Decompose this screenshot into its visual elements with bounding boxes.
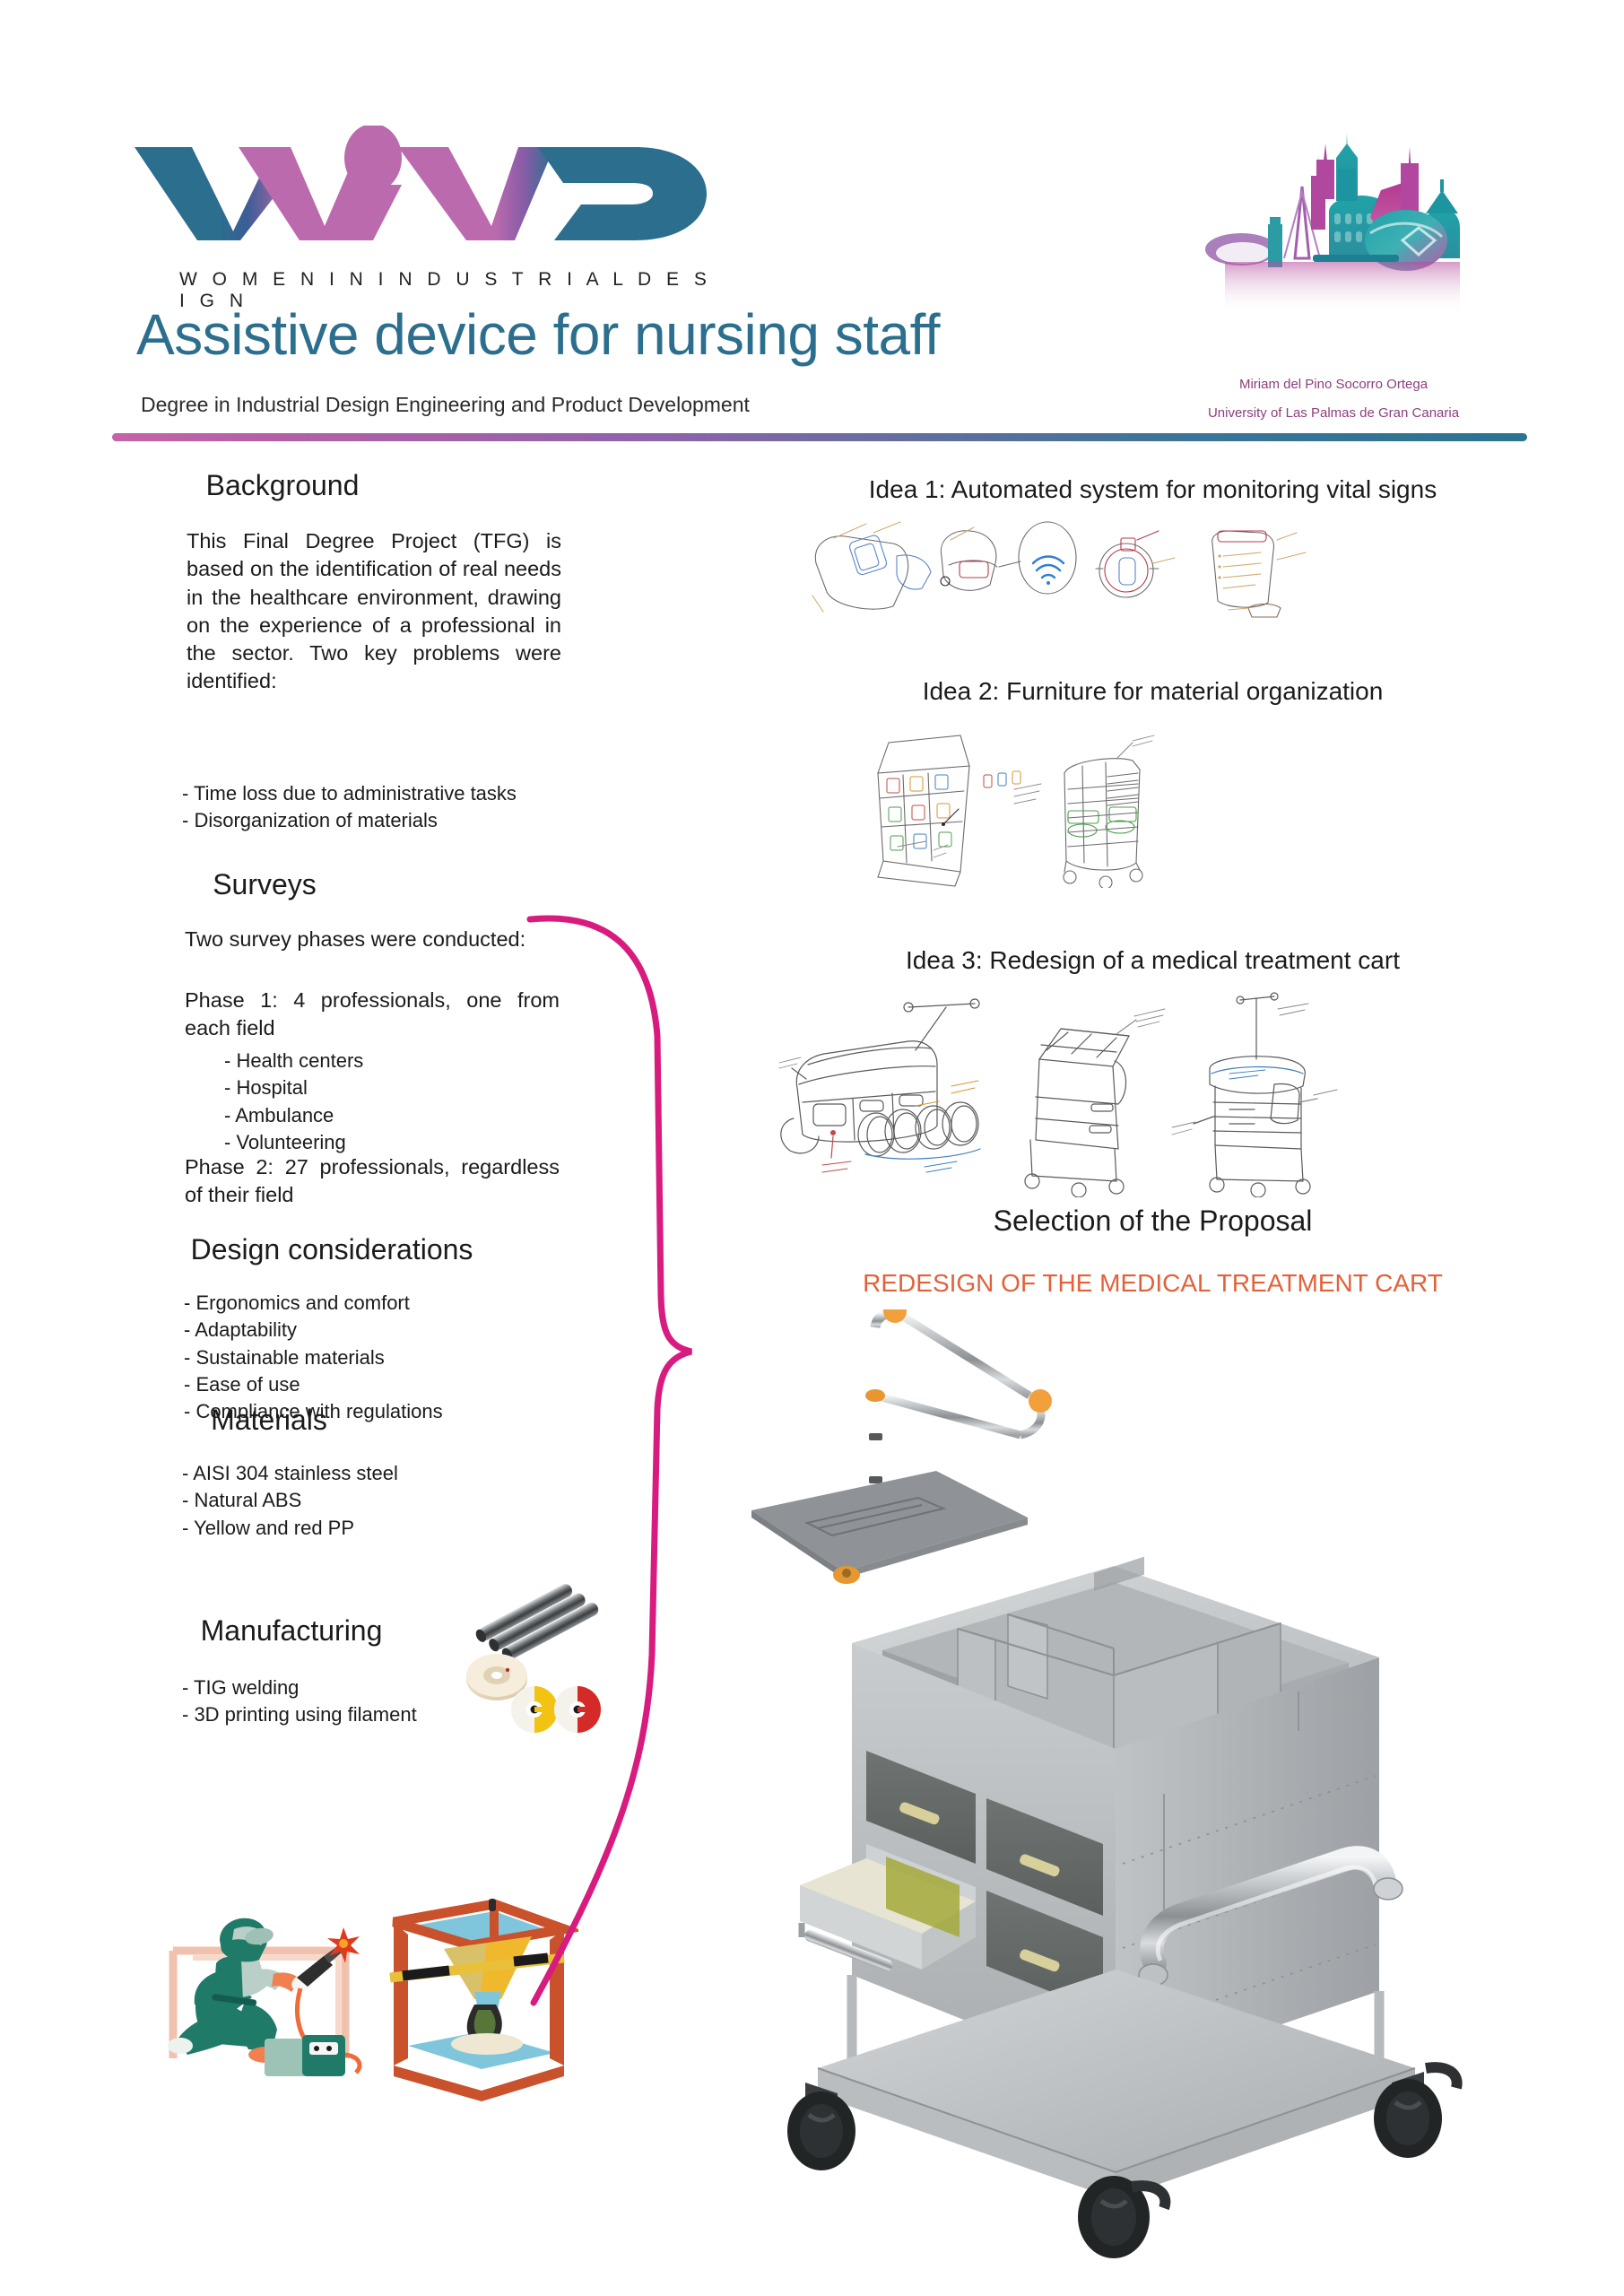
list-item: - Ergonomics and comfort [184,1290,569,1317]
list-item: - Sustainable materials [184,1344,569,1371]
detachable-tray [751,1471,1028,1584]
printer-illustration [390,1899,564,2101]
list-item: - Hospital [224,1074,565,1101]
list-item: - Health centers [224,1048,565,1074]
manufacturing-illustrations [166,1888,578,2121]
header-divider [112,433,1527,441]
list-item: - AISI 304 stainless steel [182,1460,505,1487]
wind-logo [133,126,707,242]
university-skyline-logo [1194,124,1472,330]
idea-2-heading: Idea 2: Furniture for material organizat… [682,677,1624,706]
poster-page: W O M E N I N I N D U S T R I A L D E S … [0,0,1624,2296]
list-item: - Yellow and red PP [182,1515,505,1542]
list-item: - 3D printing using filament [182,1701,559,1728]
surveys-phase1-field-list: - Health centers - Hospital - Ambulance … [224,1048,565,1156]
cart-3d-render [751,1309,1576,2260]
selection-of-proposal-heading: Selection of the Proposal [682,1205,1624,1238]
list-item: - Volunteering [224,1129,565,1156]
list-item: - Ease of use [184,1371,569,1398]
section-heading-design-considerations: Design considerations [143,1233,520,1266]
list-item: - Time loss due to administrative tasks [182,780,577,807]
manufacturing-list: - TIG welding - 3D printing using filame… [182,1674,559,1729]
list-item: - Adaptability [184,1317,569,1344]
institution-credit: University of Las Palmas de Gran Canaria [1168,405,1499,421]
surveys-phase2: Phase 2: 27 professionals, regardless of… [185,1153,560,1210]
background-bullet-list: - Time loss due to administrative tasks … [182,780,577,835]
list-item: - Disorganization of materials [182,807,577,834]
list-item: - Natural ABS [182,1487,505,1514]
idea-1-sketches [807,520,1327,619]
list-item: - TIG welding [182,1674,559,1701]
welder-illustration [168,1918,360,2076]
idea-3-sketches [767,991,1341,1197]
section-heading-surveys: Surveys [143,868,386,901]
list-item: - Ambulance [224,1102,565,1129]
idea-2-sketches [847,726,1233,888]
section-heading-materials: Materials [143,1404,395,1437]
background-paragraph: This Final Degree Project (TFG) is based… [187,527,561,696]
surveys-intro: Two survey phases were conducted: [185,926,560,953]
page-subtitle: Degree in Industrial Design Engineering … [141,393,750,417]
section-heading-background: Background [135,469,430,502]
left-column: Background This Final Degree Project (TF… [0,448,592,2296]
right-column: Idea 1: Automated system for monitoring … [682,448,1624,2296]
page-title: Assistive device for nursing staff [136,305,940,365]
idea-3-heading: Idea 3: Redesign of a medical treatment … [682,946,1624,975]
idea-1-heading: Idea 1: Automated system for monitoring … [682,475,1624,504]
materials-list: - AISI 304 stainless steel - Natural ABS… [182,1460,505,1542]
author-credit: Miriam del Pino Socorro Ortega [1194,377,1472,392]
poster-header: W O M E N I N I N D U S T R I A L D E S … [0,0,1624,448]
section-heading-manufacturing: Manufacturing [139,1614,444,1648]
redesign-heading: REDESIGN OF THE MEDICAL TREATMENT CART [682,1269,1624,1298]
cart-body [787,1557,1457,2258]
surveys-phase1: Phase 1: 4 professionals, one from each … [185,987,560,1043]
